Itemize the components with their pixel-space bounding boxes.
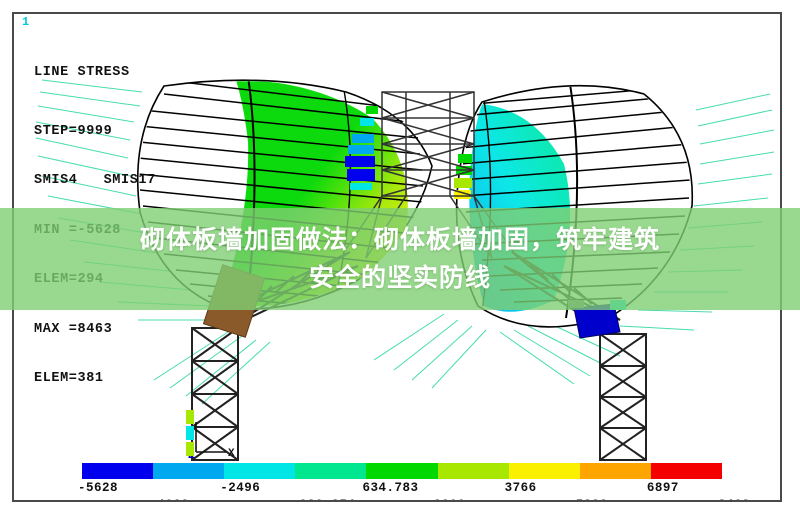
colorbar-tick--2496: -2496 [220, 481, 260, 495]
colorbar-tick--5628: -5628 [78, 481, 118, 495]
caption-overlay: 砌体板墙加固做法：砌体板墙加固，筑牢建筑 安全的坚实防线 [0, 208, 800, 310]
legend-line-max: MAX =8463 [34, 322, 156, 339]
colorbar-tick--4062: -4062 [149, 498, 189, 502]
colorbar-tick-8463: 8463 [718, 498, 750, 502]
colorbar-tick-6897: 6897 [647, 481, 679, 495]
colorbar-labels: -5628-4062-2496-930.854634.7832200376653… [14, 463, 780, 502]
colorbar-tick-5332: 5332 [576, 498, 608, 502]
legend-line-step: STEP=9999 [34, 124, 156, 141]
caption-line-2: 安全的坚实防线 [309, 259, 491, 297]
plot-title: LINE STRESS [34, 65, 156, 82]
legend-line-max-elem: ELEM=381 [34, 371, 156, 388]
caption-line-1: 砌体板墙加固做法：砌体板墙加固，筑牢建筑 [140, 221, 660, 259]
axis-triad: Z X [186, 410, 235, 462]
legend-line-components: SMIS4 SMIS17 [34, 173, 156, 190]
colorbar-tick-3766: 3766 [505, 481, 537, 495]
colorbar-tick-634.783: 634.783 [362, 481, 418, 495]
screenshot-root: 1 [0, 0, 800, 514]
colorbar-tick--930.854: -930.854 [291, 498, 355, 502]
axis-x-label: X [228, 448, 235, 460]
colorbar-tick-2200: 2200 [434, 498, 466, 502]
